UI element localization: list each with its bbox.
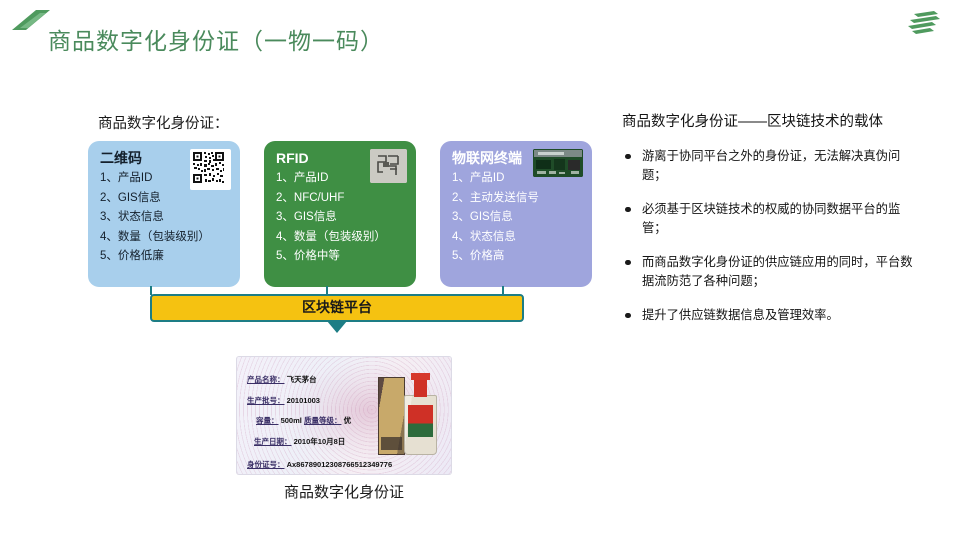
right-bullet-list: 游离于协同平台之外的身份证，无法解决真伪问题； 必须基于区块链技术的权威的协同数… <box>622 147 918 325</box>
tech-card-feature-list: 1、产品ID 2、主动发送信号 3、GIS信息 4、状态信息 5、价格高 <box>452 169 582 267</box>
cert-value: 500ml <box>281 416 302 425</box>
cert-value: 2010年10月8日 <box>294 437 346 446</box>
right-column-title: 商品数字化身份证——区块链技术的载体 <box>622 112 918 133</box>
cert-label: 身份证号： <box>247 460 285 469</box>
tech-card-rfid[interactable]: RFID 1、产品ID 2、NFC/UHF 3、GIS信 <box>264 141 416 287</box>
cert-value-secondary: 优 <box>344 416 352 425</box>
list-item: 5、价格低廉 <box>100 247 230 267</box>
list-item: 4、状态信息 <box>452 228 582 248</box>
right-text-column: 商品数字化身份证——区块链技术的载体 游离于协同平台之外的身份证，无法解决真伪问… <box>622 112 918 340</box>
digital-id-certificate-card[interactable]: 产品名称： 飞天茅台 生产批号： 20101003 容量： 500ml 质量等级… <box>237 357 451 474</box>
list-item: 5、价格中等 <box>276 247 406 267</box>
down-arrow-icon <box>327 321 347 333</box>
certificate-fields: 产品名称： 飞天茅台 生产批号： 20101003 容量： 500ml 质量等级… <box>247 370 397 472</box>
list-item: 4、数量（包装级别） <box>100 228 230 248</box>
cert-row-production-date: 生产日期： 2010年10月8日 <box>247 432 397 453</box>
list-item: 2、GIS信息 <box>100 189 230 209</box>
bottle-cap <box>411 373 430 380</box>
cert-label: 容量： <box>256 416 279 425</box>
tech-card-feature-list: 1、产品ID 2、NFC/UHF 3、GIS信息 4、数量（包装级别） 5、价格… <box>276 169 406 267</box>
iot-board-icon <box>533 149 583 177</box>
left-diagram-column: 商品数字化身份证： 二维码 <box>0 0 600 540</box>
bottle-neck <box>414 377 427 397</box>
list-item: 提升了供应链数据信息及管理效率。 <box>622 306 918 325</box>
cert-value: 20101003 <box>287 396 320 405</box>
blockchain-platform-label: 区块链平台 <box>150 294 524 322</box>
cert-row-product-name: 产品名称： 飞天茅台 <box>247 370 397 391</box>
cert-row-volume-grade: 容量： 500ml 质量等级： 优 <box>247 411 397 432</box>
cert-label-secondary: 质量等级： <box>304 416 342 425</box>
cert-label: 产品名称： <box>247 375 285 384</box>
list-item: 3、GIS信息 <box>452 208 582 228</box>
cert-label: 生产日期： <box>254 437 292 446</box>
list-item: 游离于协同平台之外的身份证，无法解决真伪问题； <box>622 147 918 185</box>
gift-box <box>378 377 405 455</box>
tech-card-iot-terminal[interactable]: 物联网终端 1、产品ID 2、主动发送信号 3 <box>440 141 592 287</box>
cert-row-batch-no: 生产批号： 20101003 <box>247 391 397 412</box>
bottle-label <box>408 405 433 437</box>
list-item: 2、主动发送信号 <box>452 189 582 209</box>
green-slashes-decoration-icon <box>904 10 948 36</box>
list-item: 3、状态信息 <box>100 208 230 228</box>
bottle-body <box>404 395 437 455</box>
cert-label: 生产批号： <box>247 396 285 405</box>
list-item: 5、价格高 <box>452 247 582 267</box>
qr-code-icon <box>190 149 231 190</box>
list-item: 2、NFC/UHF <box>276 189 406 209</box>
list-item: 必须基于区块链技术的权威的协同数据平台的监管； <box>622 200 918 238</box>
tech-card-qrcode[interactable]: 二维码 <box>88 141 240 287</box>
maotai-bottle-image <box>376 371 442 457</box>
left-section-caption: 商品数字化身份证： <box>98 112 229 133</box>
cert-value: Ax86789012308766512349776 <box>287 460 393 469</box>
list-item: 4、数量（包装级别） <box>276 228 406 248</box>
certificate-caption: 商品数字化身份证 <box>237 481 451 502</box>
list-item: 3、GIS信息 <box>276 208 406 228</box>
rfid-tag-icon <box>370 149 407 183</box>
list-item: 而商品数字化身份证的供应链应用的同时，平台数据流防范了各种问题； <box>622 253 918 291</box>
technology-cards-group: 二维码 <box>88 141 590 289</box>
blockchain-platform-banner[interactable]: 区块链平台 <box>150 294 524 336</box>
cert-row-id-number: 身份证号： Ax86789012308766512349776 <box>247 458 397 472</box>
cert-value: 飞天茅台 <box>287 375 317 384</box>
